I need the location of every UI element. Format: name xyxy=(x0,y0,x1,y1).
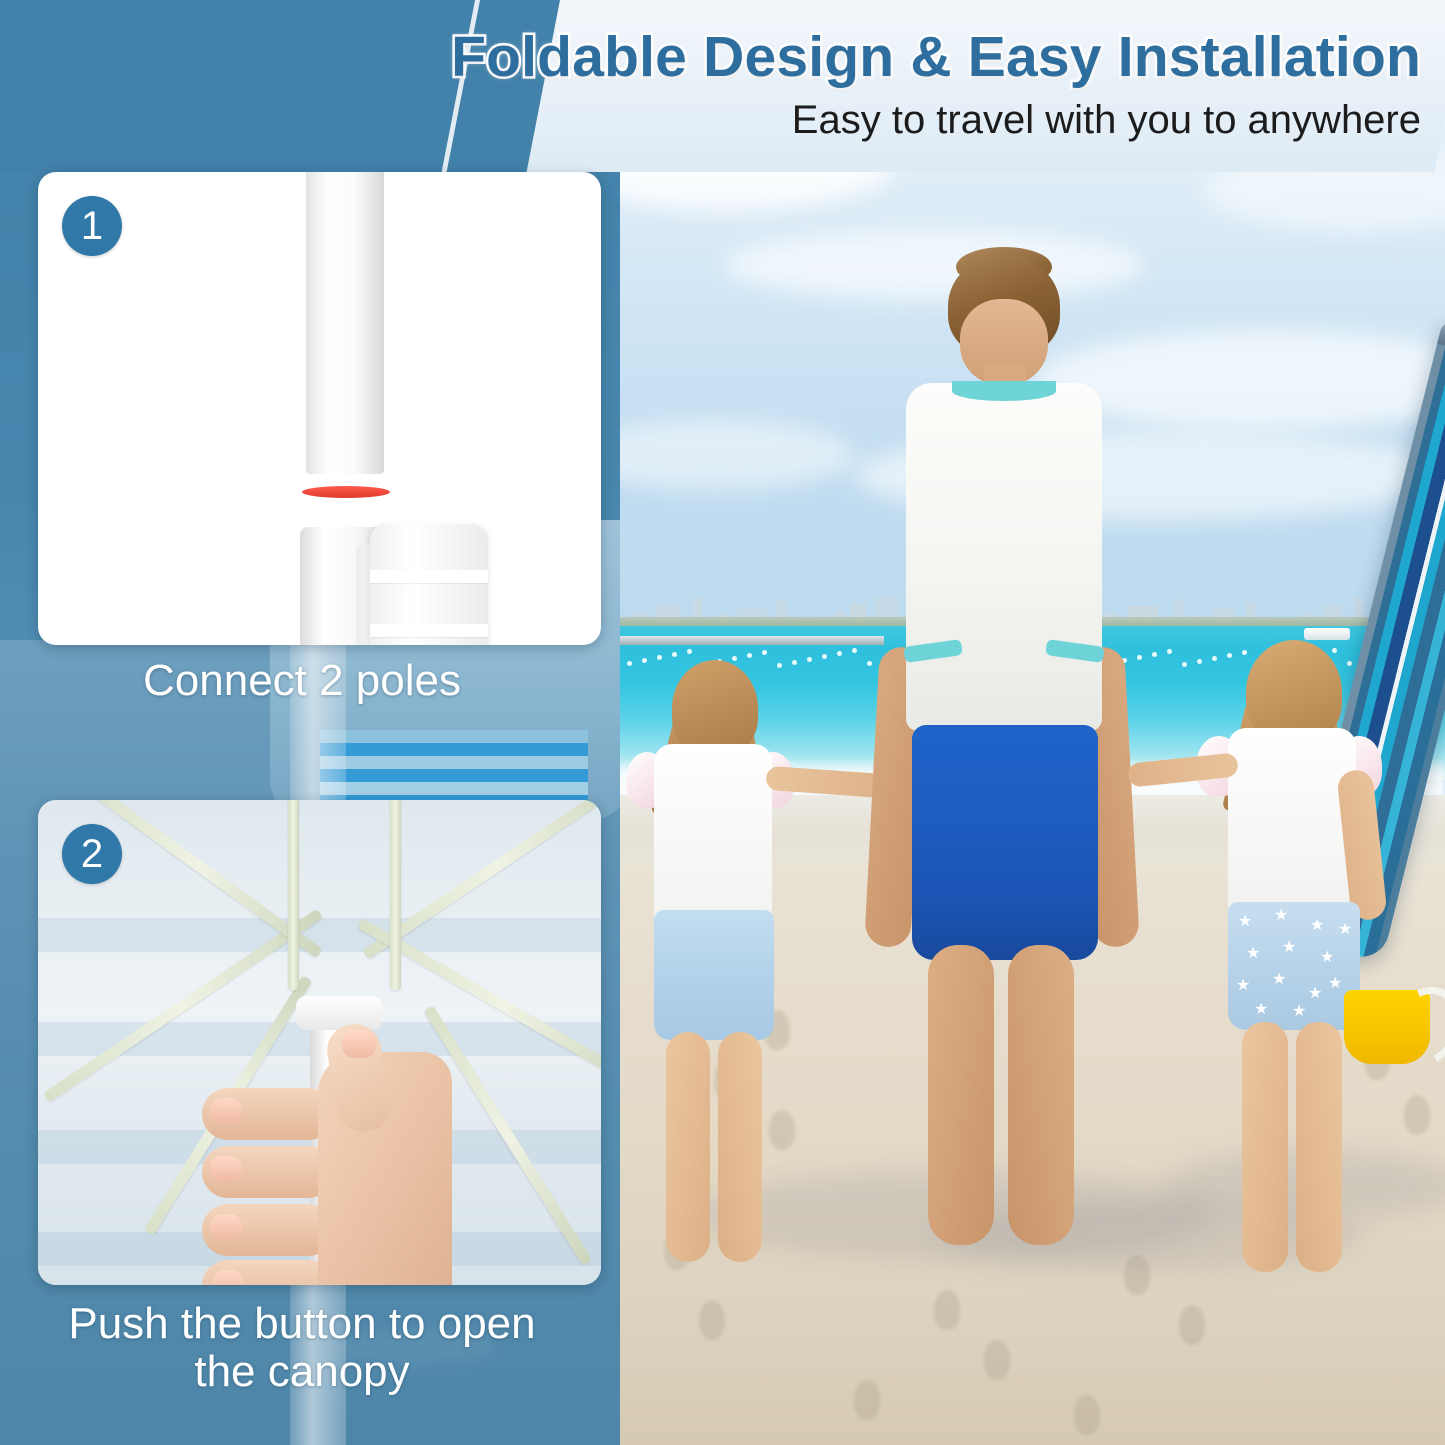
star-motif: ★ xyxy=(1272,972,1286,988)
leg xyxy=(666,1032,710,1262)
page-title: Foldable Design & Easy Installation xyxy=(451,24,1421,90)
bucket-handle xyxy=(1381,977,1445,1076)
child-left xyxy=(624,660,809,1300)
star-motif: ★ xyxy=(1338,922,1352,938)
leg xyxy=(1296,1022,1342,1272)
footprint xyxy=(934,1290,960,1330)
star-motif: ★ xyxy=(1320,950,1334,966)
knob-groove xyxy=(370,570,488,583)
buoy xyxy=(837,651,842,656)
star-motif: ★ xyxy=(1246,946,1260,962)
denim-shorts xyxy=(654,910,774,1040)
boat xyxy=(1304,628,1350,640)
buoy xyxy=(1152,652,1157,657)
star-motif: ★ xyxy=(1328,976,1342,992)
fingernail xyxy=(210,1156,242,1182)
footprint xyxy=(1404,1095,1430,1135)
step-2-card: 2 xyxy=(38,800,601,1285)
white-tshirt xyxy=(1228,728,1356,918)
star-denim-shorts: ★★★★★★★★★★★★★ xyxy=(1228,902,1360,1030)
buoy xyxy=(1182,662,1187,667)
page-subtitle: Easy to travel with you to anywhere xyxy=(792,98,1421,143)
star-motif: ★ xyxy=(1282,940,1296,956)
star-motif: ★ xyxy=(1238,914,1252,930)
valance-stripe xyxy=(320,756,588,769)
leg xyxy=(1242,1022,1288,1272)
buoy xyxy=(762,650,767,655)
valance-stripe xyxy=(320,743,588,756)
thumbnail xyxy=(342,1030,376,1058)
child-right: ★★★★★★★★★★★★★ xyxy=(1194,640,1404,1320)
knob-groove xyxy=(370,624,488,637)
valance-stripe xyxy=(320,769,588,782)
star-motif: ★ xyxy=(1274,908,1288,924)
star-motif: ★ xyxy=(1310,918,1324,934)
footprint xyxy=(699,1300,725,1340)
star-motif: ★ xyxy=(1236,978,1250,994)
star-motif: ★ xyxy=(1292,1004,1306,1020)
star-motif: ★ xyxy=(1254,1002,1268,1018)
step-1-caption: Connect 2 poles xyxy=(0,656,604,705)
valance-stripe xyxy=(320,782,588,795)
buoy xyxy=(822,654,827,659)
fingernail xyxy=(210,1214,242,1240)
yellow-bucket xyxy=(1344,990,1430,1064)
upper-pole xyxy=(306,172,384,474)
fingernail xyxy=(212,1270,244,1285)
hero-photo: ★★★★★★★★★★★★★ xyxy=(604,0,1445,1445)
leg xyxy=(718,1032,762,1262)
hair xyxy=(672,660,758,756)
hand-gripping-pole xyxy=(206,1032,452,1285)
step-1-card: 1 xyxy=(38,172,601,645)
pier xyxy=(604,636,884,645)
footprint xyxy=(984,1340,1010,1380)
buoy xyxy=(687,649,692,654)
blue-swim-shorts xyxy=(912,725,1098,960)
white-tshirt xyxy=(654,744,772,924)
fingernail xyxy=(210,1098,242,1124)
step-2-caption: Push the button to open the canopy xyxy=(0,1300,604,1397)
footprint xyxy=(854,1380,880,1420)
step-badge-2: 2 xyxy=(62,824,122,884)
leg xyxy=(928,945,994,1245)
buoy xyxy=(747,653,752,658)
canopy-rib xyxy=(390,800,401,990)
rib-hub xyxy=(296,996,382,1030)
leg xyxy=(1008,945,1074,1245)
collar-trim xyxy=(952,381,1056,401)
step-badge-1: 1 xyxy=(62,196,122,256)
white-tshirt xyxy=(906,383,1102,731)
buoy xyxy=(1167,649,1172,654)
adult-man xyxy=(856,255,1146,1255)
buoy xyxy=(672,652,677,657)
canopy-rib xyxy=(288,800,299,990)
infographic-canvas: ★★★★★★★★★★★★★ Foldable Design & Easy Ins… xyxy=(0,0,1445,1445)
valance-stripe xyxy=(320,730,588,743)
red-alignment-ring xyxy=(302,486,390,498)
footprint xyxy=(1074,1395,1100,1435)
star-motif: ★ xyxy=(1308,986,1322,1002)
